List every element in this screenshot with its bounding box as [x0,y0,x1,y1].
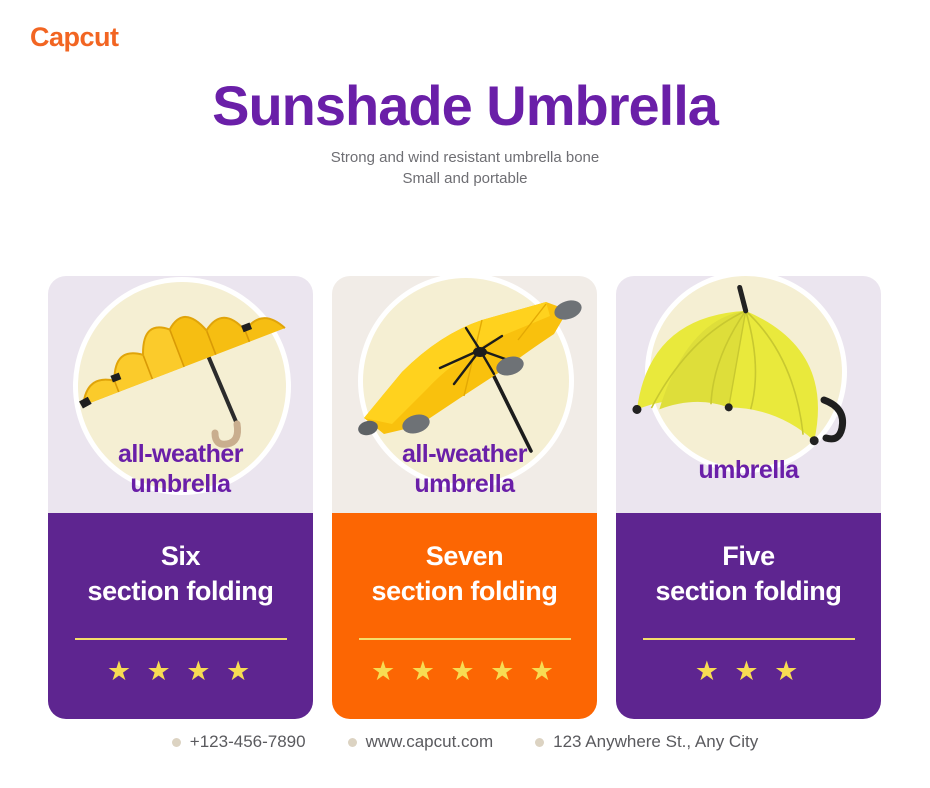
card-divider [75,638,287,640]
contact-footer: +123-456-7890 www.capcut.com 123 Anywher… [0,732,930,752]
subtitle-line-1: Strong and wind resistant umbrella bone [0,147,930,168]
card-image-area: umbrella [616,276,881,513]
page-subtitle: Strong and wind resistant umbrella bone … [0,147,930,190]
rating-stars: ★ ★ ★ ★ [48,658,313,685]
subtitle-line-2: Small and portable [0,168,930,189]
card-label: all-weather umbrella [332,439,597,499]
card-label-line-2: umbrella [48,469,313,499]
card-detail-area: Seven section folding ★ ★ ★ ★ ★ [332,513,597,719]
footer-phone[interactable]: +123-456-7890 [172,732,306,752]
card-title-line-1: Five [626,539,871,574]
bullet-dot-icon [535,738,544,747]
footer-phone-label: +123-456-7890 [190,732,306,752]
footer-website[interactable]: www.capcut.com [348,732,494,752]
card-title: Seven section folding [332,539,597,608]
card-divider [643,638,855,640]
card-label: all-weather umbrella [48,439,313,499]
bullet-dot-icon [348,738,357,747]
card-label-line-1: all-weather [332,439,597,469]
card-title-line-1: Seven [342,539,587,574]
card-image-area: all-weather umbrella [48,276,313,513]
footer-address[interactable]: 123 Anywhere St., Any City [535,732,758,752]
card-label: umbrella [616,455,881,485]
card-title: Five section folding [616,539,881,608]
card-label-line-2: umbrella [332,469,597,499]
footer-website-label: www.capcut.com [366,732,494,752]
product-card[interactable]: all-weather umbrella Six section folding… [48,276,313,719]
product-card-list: all-weather umbrella Six section folding… [48,276,882,719]
card-label-line-1: umbrella [616,455,881,485]
brand-logo: Capcut [30,22,119,53]
card-detail-area: Five section folding ★ ★ ★ [616,513,881,719]
footer-address-label: 123 Anywhere St., Any City [553,732,758,752]
product-card[interactable]: all-weather umbrella Seven section foldi… [332,276,597,719]
card-title-line-2: section folding [58,574,303,609]
page-header: Sunshade Umbrella Strong and wind resist… [0,78,930,190]
card-divider [359,638,571,640]
card-label-line-1: all-weather [48,439,313,469]
rating-stars: ★ ★ ★ ★ ★ [332,658,597,685]
bullet-dot-icon [172,738,181,747]
card-title: Six section folding [48,539,313,608]
card-image-area: all-weather umbrella [332,276,597,513]
card-title-line-2: section folding [626,574,871,609]
page-title: Sunshade Umbrella [0,78,930,134]
card-detail-area: Six section folding ★ ★ ★ ★ [48,513,313,719]
product-card[interactable]: umbrella Five section folding ★ ★ ★ [616,276,881,719]
card-title-line-2: section folding [342,574,587,609]
rating-stars: ★ ★ ★ [616,658,881,685]
card-title-line-1: Six [58,539,303,574]
